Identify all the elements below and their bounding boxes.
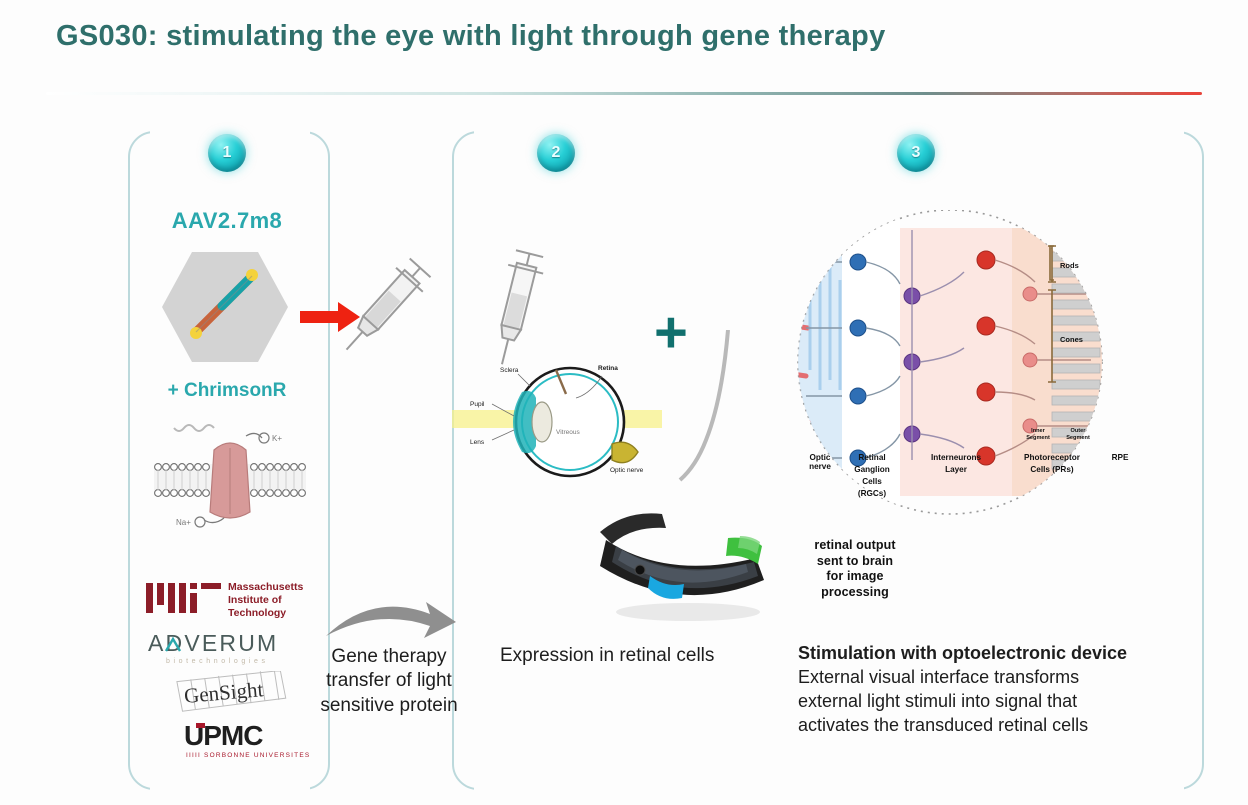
retinal-output-line-1: retinal output: [790, 538, 920, 554]
retina-bracket-label-rods: Rods: [1060, 261, 1079, 270]
retina-label-photoreceptors-2: Cells (PRs): [1030, 465, 1073, 474]
panel-1-caption: Gene therapy transfer of light sensitive…: [318, 645, 460, 718]
eye-label-optic-nerve: Optic nerve: [610, 467, 644, 474]
adverum-logo: ADVERUM biotechnologies: [140, 627, 320, 669]
eye-label-vitreous: Vitreous: [556, 429, 580, 436]
page-title: GS030: stimulating the eye with light th…: [56, 20, 886, 53]
svg-text:Massachusetts: Massachusetts: [228, 581, 303, 593]
eye-label-lens: Lens: [470, 439, 485, 446]
retina-label-interneurons-2: Layer: [945, 465, 968, 474]
upmc-logo: UPMC IIIII SORBONNE UNIVERSITES: [140, 715, 320, 763]
retina-label-rgc-3: Cells: [862, 477, 882, 486]
panel-3-caption: Stimulation with optoelectronic device E…: [798, 642, 1178, 738]
panel-3-caption-line-2: external light stimuli into signal that: [798, 690, 1178, 714]
svg-text:IIIII SORBONNE UNIVERSITES: IIIII SORBONNE UNIVERSITES: [186, 752, 310, 759]
svg-text:UPMC: UPMC: [184, 720, 263, 751]
aav-vector-label: AAV2.7m8: [128, 208, 326, 234]
svg-text:Institute of: Institute of: [228, 594, 282, 606]
segment-label-inner-2: Segment: [1026, 435, 1050, 441]
title-divider: [46, 92, 1202, 95]
retina-label-photoreceptors-1: Photoreceptor: [1024, 453, 1081, 462]
segment-label-outer-1: Outer: [1071, 428, 1087, 434]
chrimsonr-label: + ChrimsonR: [128, 380, 326, 402]
step-badge-2: 2: [537, 134, 575, 172]
syringe-icon-1: [326, 248, 442, 368]
panel-3-caption-line-1: External visual interface transforms: [798, 666, 1178, 690]
segment-label-inner-1: Inner: [1031, 428, 1045, 434]
step-badge-1: 1: [208, 134, 246, 172]
step-badge-3: 3: [897, 134, 935, 172]
svg-text:K+: K+: [272, 434, 282, 443]
slide-root: GS030: stimulating the eye with light th…: [0, 0, 1248, 805]
panel-3-caption-heading: Stimulation with optoelectronic device: [798, 642, 1178, 666]
svg-text:biotechnologies: biotechnologies: [166, 658, 269, 665]
svg-text:Technology: Technology: [228, 607, 286, 619]
retinal-output-annotation: retinal output sent to brain for image p…: [790, 538, 920, 601]
retina-label-rgc-4: (RGCs): [858, 489, 886, 498]
svg-text:GenSight: GenSight: [183, 677, 264, 708]
retina-label-rgc-2: Ganglion: [854, 465, 889, 474]
aav-capsid-hexagon-icon: [160, 246, 290, 368]
retina-label-interneurons-1: Interneurons: [931, 453, 981, 462]
retina-label-rpe: RPE: [1112, 453, 1129, 462]
partner-logos: Massachusetts Institute of Technology AD…: [140, 575, 320, 763]
retina-label-rgc-1: Retinal: [858, 453, 885, 462]
eye-label-retina: Retina: [598, 365, 618, 372]
panel-2-caption: Expression in retinal cells: [500, 644, 730, 669]
retina-label-optic-nerve-2: nerve: [809, 462, 831, 471]
channelrhodopsin-membrane-icon: K+ Na+: [150, 410, 310, 550]
retinal-output-line-2: sent to brain: [790, 554, 920, 570]
panel-3-caption-line-3: activates the transduced retinal cells: [798, 714, 1178, 738]
retina-label-optic-nerve-1: Optic: [810, 453, 831, 462]
svg-text:Na+: Na+: [176, 518, 191, 527]
retina-bracket-label-cones: Cones: [1060, 335, 1083, 344]
mit-logo: Massachusetts Institute of Technology: [140, 575, 320, 623]
retinal-output-line-4: processing: [790, 585, 920, 601]
eye-label-pupil: Pupil: [470, 401, 485, 408]
gensight-logo: GenSight: [140, 671, 320, 713]
retinal-output-line-3: for image: [790, 569, 920, 585]
eye-cross-section-diagram: Sclera Retina Pupil Lens Vitreous Optic …: [452, 348, 674, 500]
eye-label-sclera: Sclera: [500, 367, 519, 374]
panel-2-caption-line-2: retinal cells: [619, 645, 714, 666]
svg-text:ADVERUM: ADVERUM: [148, 630, 278, 656]
optoelectronic-goggles: [588, 488, 784, 628]
panel-2-caption-line-1: Expression in: [500, 645, 614, 666]
segment-label-outer-2: Segment: [1066, 435, 1090, 441]
